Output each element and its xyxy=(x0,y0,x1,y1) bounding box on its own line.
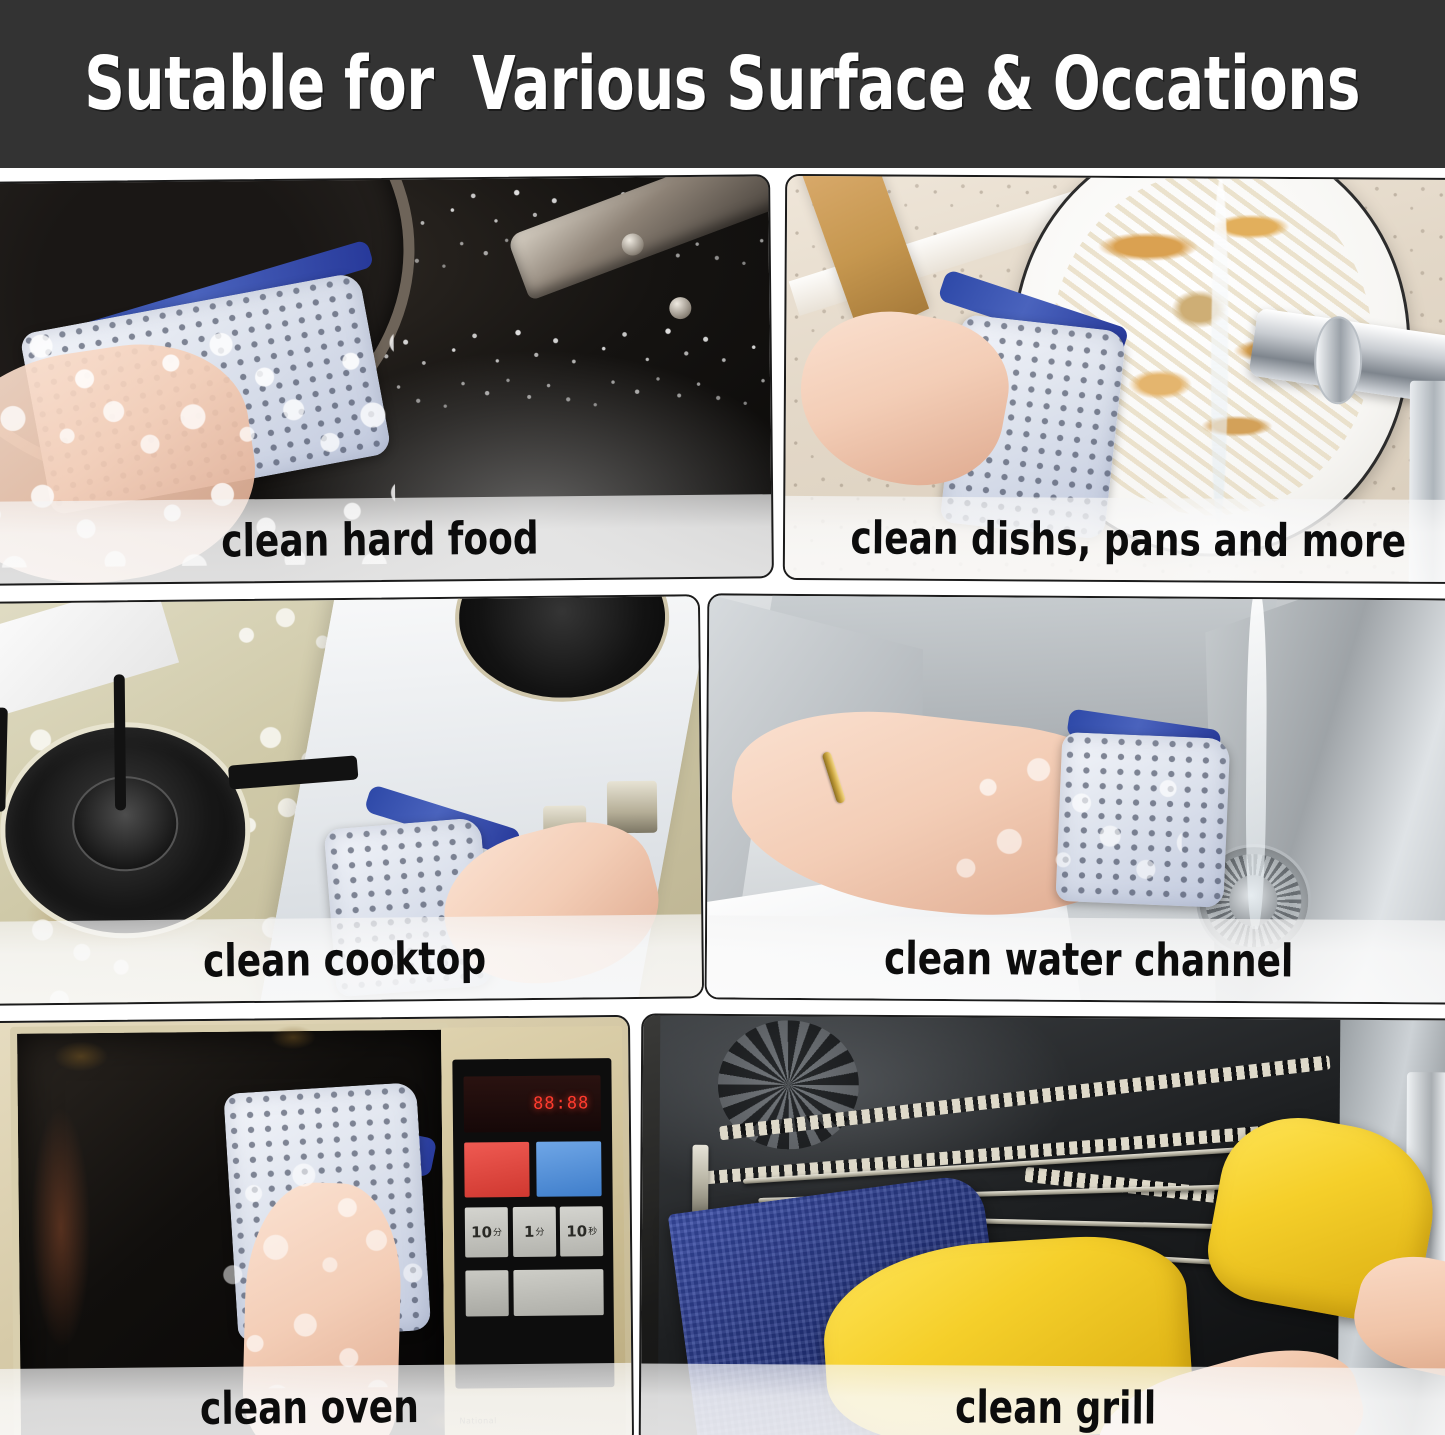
soap-suds xyxy=(952,742,1182,904)
keypad-unit: 分 xyxy=(535,1225,544,1238)
soap-suds xyxy=(217,1147,425,1389)
caption-band: clean grill xyxy=(641,1363,1445,1435)
keypad-button-extra-1[interactable] xyxy=(466,1270,509,1316)
caption-band: clean oven xyxy=(0,1363,632,1435)
keypad-unit: 分 xyxy=(493,1226,502,1239)
tile-clean-oven[interactable]: 88:88 10分 1分 10秒 Nationa xyxy=(0,1015,634,1435)
keypad-label: 10 xyxy=(566,1222,587,1240)
caption-band: clean cooktop xyxy=(0,914,702,1003)
keypad-button-extra-2[interactable] xyxy=(513,1269,604,1316)
caption-band: clean dishs, pans and more xyxy=(785,496,1445,582)
page-title: Sutable for Various Surface & Occations xyxy=(85,47,1361,121)
oven-rack-bracket xyxy=(692,1145,709,1214)
tile-clean-grill[interactable]: clean grill xyxy=(639,1013,1445,1435)
tile-caption: clean grill xyxy=(955,1384,1156,1430)
infographic-page: Sutable for Various Surface & Occations … xyxy=(0,0,1445,1435)
display-value: 88:88 xyxy=(533,1093,589,1114)
keypad-button-1min[interactable]: 1分 xyxy=(513,1207,556,1257)
tile-caption: clean oven xyxy=(200,1383,419,1430)
tile-caption: clean water channel xyxy=(884,935,1294,983)
tile-clean-hard-food[interactable]: clean hard food xyxy=(0,174,774,586)
tile-caption: clean dishs, pans and more xyxy=(850,515,1406,563)
keypad-button-10sec[interactable]: 10秒 xyxy=(560,1206,603,1256)
pan-rivet xyxy=(669,297,691,319)
keypad-unit: 秒 xyxy=(588,1225,597,1238)
keypad-label: 10 xyxy=(471,1223,492,1241)
keypad-label: 1 xyxy=(524,1223,535,1241)
burner-knob xyxy=(607,781,658,834)
tile-clean-cooktop[interactable]: clean cooktop xyxy=(0,594,704,1005)
button-red[interactable] xyxy=(464,1141,530,1197)
button-blue[interactable] xyxy=(536,1141,602,1197)
keypad-button-10min[interactable]: 10分 xyxy=(465,1207,508,1257)
led-display: 88:88 xyxy=(464,1075,601,1132)
tile-caption: clean cooktop xyxy=(203,935,486,983)
pan-rivet xyxy=(621,233,643,255)
caption-band: clean water channel xyxy=(707,915,1445,1002)
control-panel-face: 88:88 10分 1分 10秒 xyxy=(452,1058,614,1388)
tile-clean-dishs-pans[interactable]: clean dishs, pans and more xyxy=(783,174,1445,584)
tile-clean-water-channel[interactable]: clean water channel xyxy=(705,593,1445,1004)
burner-grate xyxy=(113,674,126,810)
header-banner: Sutable for Various Surface & Occations xyxy=(0,0,1445,168)
tile-caption: clean hard food xyxy=(221,515,539,563)
caption-band: clean hard food xyxy=(0,494,772,584)
